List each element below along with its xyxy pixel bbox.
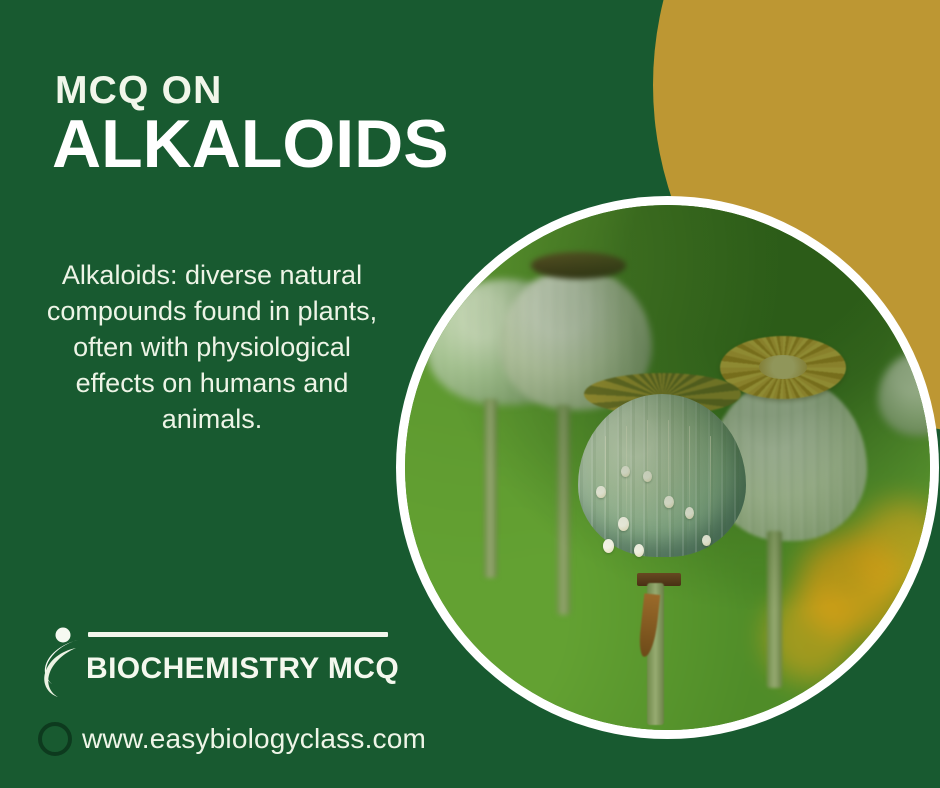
photo-vignette bbox=[405, 205, 930, 730]
globe-icon bbox=[38, 722, 72, 756]
brand-divider bbox=[88, 632, 388, 637]
brand-name: BIOCHEMISTRY MCQ bbox=[86, 652, 399, 685]
poppy-photo-circle bbox=[396, 196, 939, 739]
website-row[interactable]: www.easybiologyclass.com bbox=[38, 722, 426, 756]
poster-canvas: MCQ ON ALKALOIDS Alkaloids: diverse natu… bbox=[0, 0, 940, 788]
page-title: ALKALOIDS bbox=[52, 110, 449, 179]
kicker-heading: MCQ ON bbox=[55, 71, 223, 110]
description-text: Alkaloids: diverse natural compounds fou… bbox=[42, 258, 382, 438]
website-url[interactable]: www.easybiologyclass.com bbox=[82, 725, 426, 753]
poppy-photo bbox=[405, 205, 930, 730]
human-figure-logo-icon bbox=[36, 622, 86, 702]
